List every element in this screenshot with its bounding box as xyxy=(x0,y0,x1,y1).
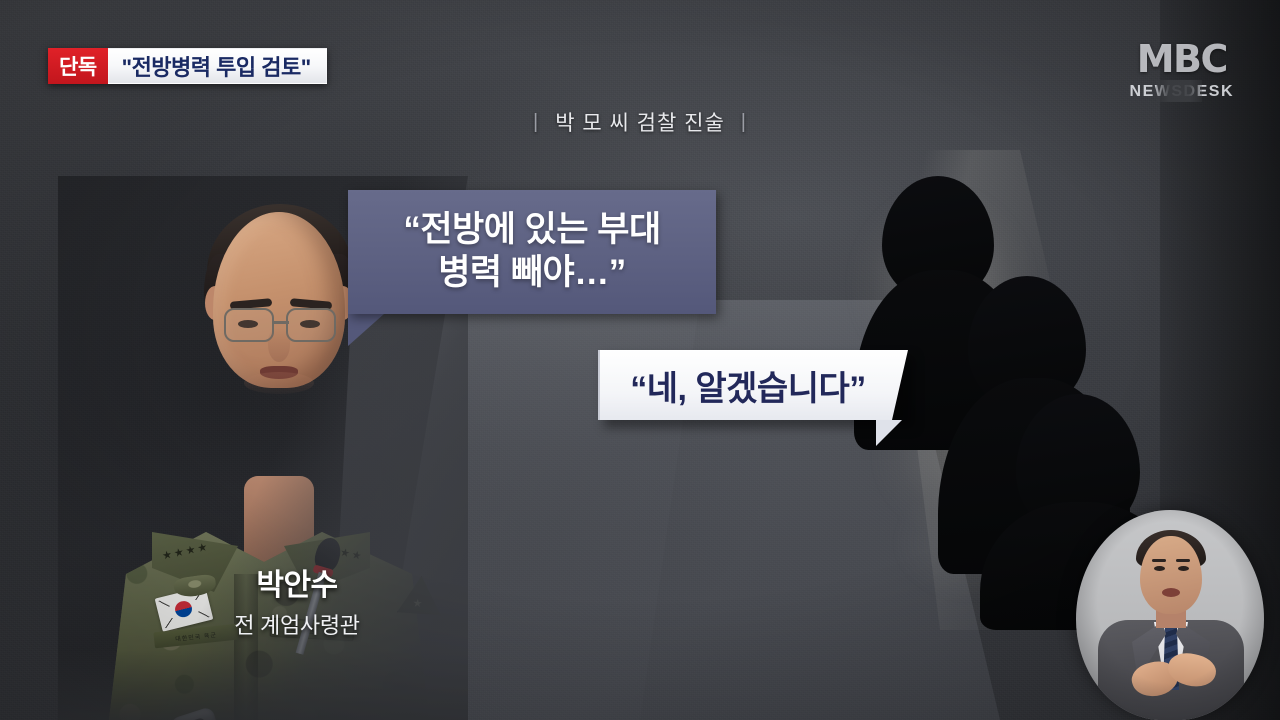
channel-logo: MBC NEWSDESK xyxy=(1130,40,1234,101)
interpreter-face xyxy=(1140,536,1202,614)
headline-title: "전방병력 투입 검토" xyxy=(108,48,327,84)
headline-banner: 단독 "전방병력 투입 검토" xyxy=(48,48,327,84)
speech-bubble-1-text: “전방에 있는 부대 병력 빼야…” xyxy=(348,190,716,314)
broadcast-screen: ★ ★ ★ ★ ★ ★ ★ ★ 대한민국 육군 박 안 수 xyxy=(0,0,1280,720)
speech-bubble-2-line-1: “네, 알겠습니다” xyxy=(630,361,866,410)
person-name-caption: 박안수 전 계엄사령관 xyxy=(182,560,412,640)
interpreter-eyebrow-left xyxy=(1152,559,1166,562)
mbc-brand-logo: MBC xyxy=(1130,40,1234,78)
interpreter-mouth xyxy=(1162,588,1180,597)
caption-divider-right: | xyxy=(741,111,747,134)
person-title: 전 계엄사령관 xyxy=(182,608,412,640)
speech-bubble-1-line-2: 병력 빼야…” xyxy=(438,253,626,294)
exclusive-badge: 단독 xyxy=(48,48,108,84)
program-name: NEWSDESK xyxy=(1130,83,1234,101)
caption-text: 박 모 씨 검찰 진술 xyxy=(555,107,725,137)
speech-bubble-2-text: “네, 알겠습니다” xyxy=(598,350,898,420)
interpreter-eyebrow-right xyxy=(1176,559,1190,562)
interpreter-eye-right xyxy=(1178,566,1189,571)
sign-language-interpreter-inset xyxy=(1076,510,1264,720)
caption-divider-left: | xyxy=(533,111,539,134)
program-name-occlusion xyxy=(1156,80,1202,102)
person-name: 박안수 xyxy=(182,560,412,604)
interpreter-eye-left xyxy=(1154,566,1165,571)
source-caption: | 박 모 씨 검찰 진술 | xyxy=(0,107,1280,137)
speech-bubble-1-line-1: “전방에 있는 부대 xyxy=(403,210,660,251)
